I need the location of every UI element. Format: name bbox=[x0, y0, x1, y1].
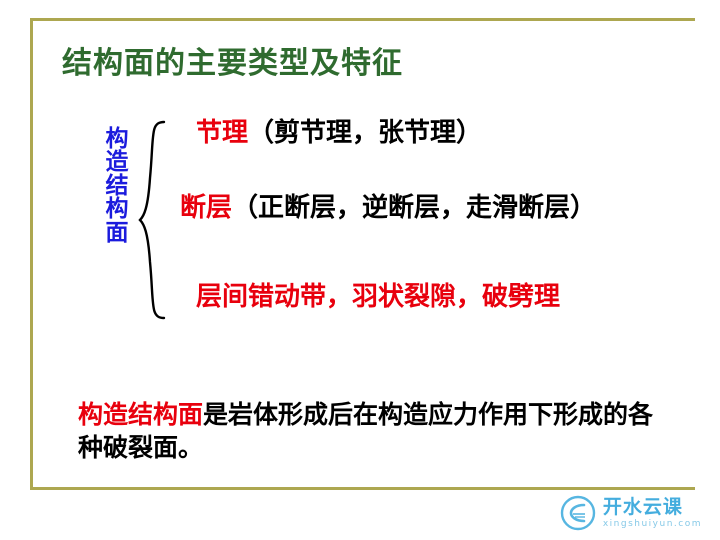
item-row-3: 层间错动带，羽状裂隙，破劈理 bbox=[196, 276, 560, 313]
item-1-head: 节理 bbox=[196, 118, 248, 148]
watermark-logo: 开水云课 xingshuiyun.com bbox=[559, 494, 702, 532]
item-2-tail: （正断层，逆断层，走滑断层） bbox=[232, 193, 596, 223]
vertical-label-char-3: 构 bbox=[104, 198, 130, 221]
vertical-category-label: 构 造 结 构 面 bbox=[104, 128, 130, 245]
body-paragraph: 构造结构面是岩体形成后在构造应力作用下形成的各种破裂面。 bbox=[78, 398, 678, 464]
paragraph-highlight: 构造结构面 bbox=[78, 400, 203, 429]
watermark-sub-text: xingshuiyun.com bbox=[603, 520, 702, 529]
decorative-border-left bbox=[30, 18, 33, 488]
decorative-border-top bbox=[30, 18, 695, 21]
item-2-head: 断层 bbox=[180, 193, 232, 223]
slide-canvas: 结构面的主要类型及特征 构 造 结 构 面 节理（剪节理，张节理） 断层（正断层… bbox=[0, 0, 720, 540]
watermark-main-text: 开水云课 bbox=[603, 498, 702, 517]
vertical-label-char-0: 构 bbox=[104, 128, 130, 151]
item-row-1: 节理（剪节理，张节理） bbox=[196, 112, 482, 149]
vertical-label-char-4: 面 bbox=[104, 222, 130, 245]
vertical-label-char-2: 结 bbox=[104, 175, 130, 198]
item-3-head: 层间错动带，羽状裂隙，破劈理 bbox=[196, 282, 560, 312]
page-title: 结构面的主要类型及特征 bbox=[62, 38, 403, 82]
watermark-text: 开水云课 xingshuiyun.com bbox=[603, 498, 702, 529]
vertical-label-char-1: 造 bbox=[104, 151, 130, 174]
item-1-tail: （剪节理，张节理） bbox=[248, 118, 482, 148]
decorative-border-bottom bbox=[30, 487, 695, 490]
c-circle-icon bbox=[559, 494, 597, 532]
curly-brace-icon bbox=[138, 120, 178, 320]
item-row-2: 断层（正断层，逆断层，走滑断层） bbox=[180, 187, 596, 224]
